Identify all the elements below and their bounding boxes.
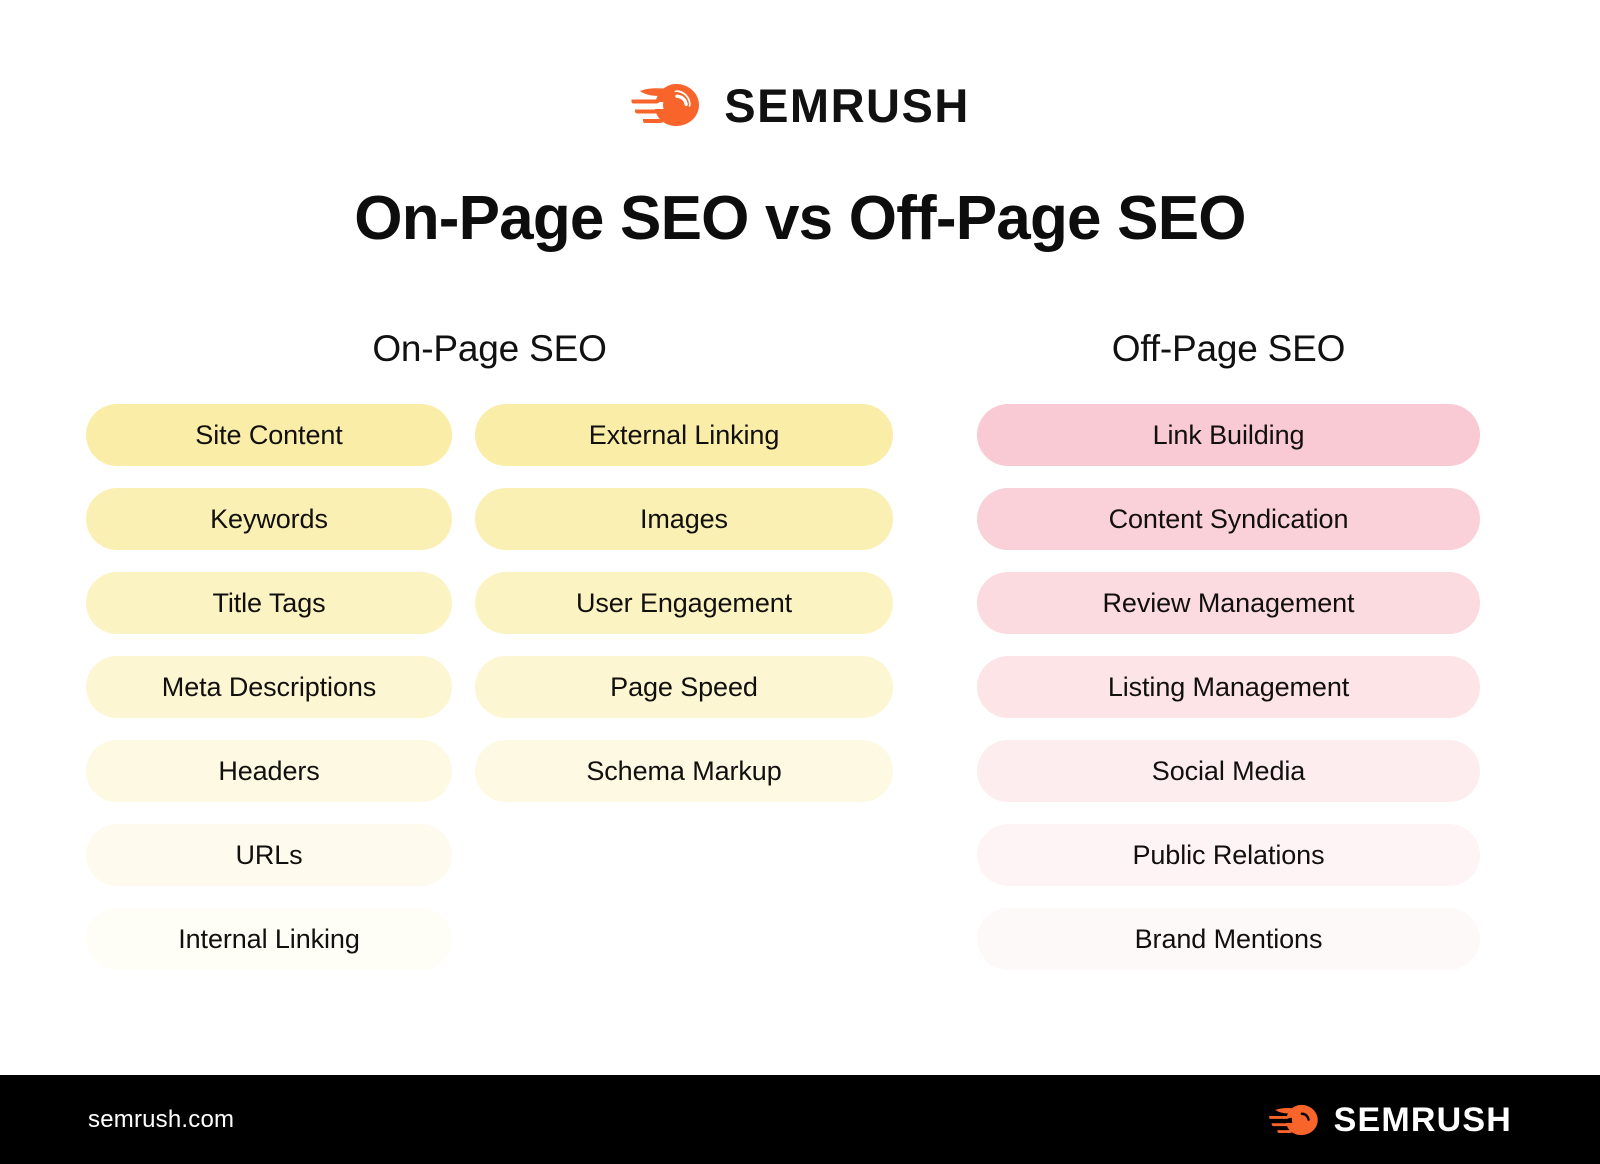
- on-page-pill-label: External Linking: [589, 420, 780, 451]
- on-page-pill-group-b: External LinkingImagesUser EngagementPag…: [475, 404, 893, 802]
- off-page-pill-group: Link BuildingContent SyndicationReview M…: [977, 404, 1480, 970]
- footer-wordmark: SEMRUSH: [1334, 1103, 1512, 1137]
- off-page-pill[interactable]: Public Relations: [977, 824, 1480, 886]
- off-page-pill[interactable]: Social Media: [977, 740, 1480, 802]
- on-page-pill-label: Schema Markup: [586, 756, 781, 787]
- on-page-pill-label: Title Tags: [212, 588, 325, 619]
- semrush-comet-logo-icon-footer: [1268, 1102, 1320, 1138]
- on-page-pill[interactable]: Internal Linking: [86, 908, 452, 970]
- semrush-comet-logo-icon: [630, 80, 702, 130]
- on-page-pill-label: Keywords: [210, 504, 328, 535]
- on-page-pill[interactable]: URLs: [86, 824, 452, 886]
- on-page-pill[interactable]: Headers: [86, 740, 452, 802]
- off-page-pill[interactable]: Content Syndication: [977, 488, 1480, 550]
- off-page-pill[interactable]: Brand Mentions: [977, 908, 1480, 970]
- off-page-pill[interactable]: Link Building: [977, 404, 1480, 466]
- on-page-pill[interactable]: Images: [475, 488, 893, 550]
- footer-bar: semrush.com SEMRUSH: [0, 1075, 1600, 1164]
- on-page-pill[interactable]: Keywords: [86, 488, 452, 550]
- on-page-pill-label: Internal Linking: [178, 924, 360, 955]
- off-page-pill-label: Content Syndication: [1109, 504, 1349, 535]
- off-page-pill-label: Brand Mentions: [1135, 924, 1323, 955]
- off-page-pill[interactable]: Review Management: [977, 572, 1480, 634]
- footer-url[interactable]: semrush.com: [88, 1106, 234, 1134]
- on-page-pill-label: Page Speed: [610, 672, 758, 703]
- off-page-pill-label: Public Relations: [1132, 840, 1324, 871]
- off-page-pill-label: Social Media: [1152, 756, 1305, 787]
- off-page-pill[interactable]: Listing Management: [977, 656, 1480, 718]
- off-page-pill-label: Listing Management: [1108, 672, 1349, 703]
- on-page-pill-group-a: Site ContentKeywordsTitle TagsMeta Descr…: [86, 404, 452, 970]
- page-title: On-Page SEO vs Off-Page SEO: [0, 186, 1600, 253]
- footer-brand: SEMRUSH: [1268, 1102, 1512, 1138]
- on-page-pill-label: Headers: [218, 756, 319, 787]
- on-page-pill-label: Site Content: [195, 420, 342, 451]
- on-page-pill-label: URLs: [235, 840, 302, 871]
- brand-header: SEMRUSH: [0, 72, 1600, 138]
- brand-wordmark: SEMRUSH: [724, 82, 970, 129]
- column-heading-off-page: Off-Page SEO: [977, 330, 1480, 367]
- on-page-pill-label: Images: [640, 504, 728, 535]
- column-heading-on-page: On-Page SEO: [86, 330, 893, 367]
- on-page-pill[interactable]: External Linking: [475, 404, 893, 466]
- off-page-pill-label: Link Building: [1153, 420, 1305, 451]
- on-page-pill-label: User Engagement: [576, 588, 792, 619]
- on-page-pill[interactable]: User Engagement: [475, 572, 893, 634]
- on-page-pill[interactable]: Title Tags: [86, 572, 452, 634]
- off-page-pill-label: Review Management: [1103, 588, 1355, 619]
- on-page-pill[interactable]: Site Content: [86, 404, 452, 466]
- on-page-pill-label: Meta Descriptions: [162, 672, 376, 703]
- on-page-pill[interactable]: Schema Markup: [475, 740, 893, 802]
- on-page-pill[interactable]: Meta Descriptions: [86, 656, 452, 718]
- on-page-pill[interactable]: Page Speed: [475, 656, 893, 718]
